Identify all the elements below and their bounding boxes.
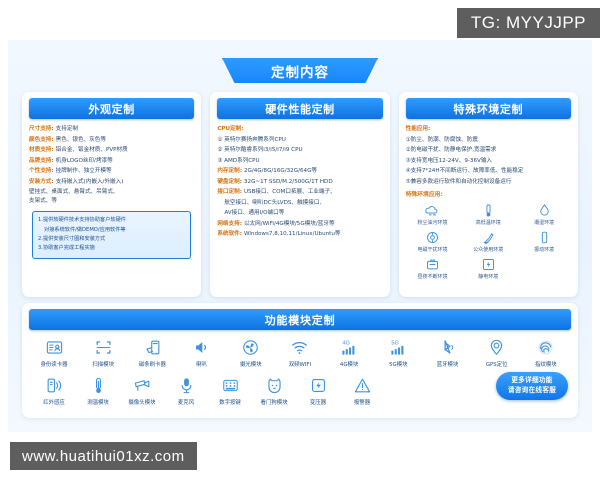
customization-columns: 外观定制 尺寸支持: 支持定制 颜色支持: 黑色、银色、灰色等 材质支持: 铝合… — [22, 92, 578, 297]
module-4g[interactable]: 4G 4G模块 — [327, 336, 371, 368]
env-item-public-use: 公众使用环境 — [461, 230, 515, 254]
spec-value: 支持定制 — [56, 125, 78, 134]
env-item-label: 电磁干扰环境 — [418, 246, 448, 254]
spec-key: 硬盘定制: — [217, 178, 242, 187]
cpu-option: ③ AMD系列CPU — [217, 157, 382, 166]
module-row-1: 身份读卡器 扫描模块 — [22, 336, 578, 368]
module-label: 测温模块 — [87, 398, 109, 406]
spec-row: 尺寸支持: 支持定制 — [29, 125, 194, 134]
env-item-label: 潮湿环境 — [534, 219, 554, 227]
cpu-group-label: CPU定制: — [217, 125, 382, 134]
water-drop-icon — [537, 203, 552, 218]
spec-row: 安装方式: 支持嵌入式(内嵌入/外嵌入) — [29, 178, 194, 187]
module-light-sensor[interactable]: 摄光模块 — [229, 336, 273, 368]
module-infrared-sensor[interactable]: 红外感应 — [32, 374, 76, 406]
spec-value: Windows7,8,10,11/Linux/Ubuntu等 — [244, 230, 341, 239]
spec-value: 2G/4G/8G/16G/32G/64G等 — [244, 167, 317, 176]
cpu-option: ① 英特尔赛扬奔腾系列CPU — [217, 136, 382, 145]
keypad-icon — [221, 374, 240, 395]
telegram-watermark: TG: MYYJJPP — [457, 8, 600, 38]
thermometer-icon — [481, 203, 496, 218]
dust-oil-icon — [425, 203, 440, 218]
fan-light-icon — [241, 336, 260, 357]
id-card-reader-icon — [45, 336, 64, 357]
spec-value: USB接口、COM口拓展、工业端子、 — [244, 188, 336, 197]
env-item-label: 昼夜不断环境 — [418, 273, 448, 281]
module-camera[interactable]: 摄像头模块 — [120, 374, 164, 406]
camera-icon — [133, 374, 152, 395]
vibration-icon — [537, 230, 552, 245]
customization-infographic: 定制内容 外观定制 尺寸支持: 支持定制 颜色支持: 黑色、银色、灰色等 材质支… — [8, 40, 592, 432]
spec-key: 安装方式: — [29, 178, 54, 187]
performance-item: ②防电磁干扰、防静电保护,宽温需求 — [406, 146, 571, 155]
spec-value: 挂牌制作、独立开模等 — [56, 167, 112, 176]
module-label: 喇叭 — [196, 360, 207, 368]
note-line: 2.提供安装尺寸图和安装方式 — [38, 235, 185, 243]
microphone-icon — [177, 374, 196, 395]
spec-value: 黑色、银色、灰色等 — [56, 136, 106, 145]
module-bluetooth[interactable]: 蓝牙模块 — [426, 336, 470, 368]
module-label: 身份读卡器 — [41, 360, 68, 368]
hardware-card-header: 硬件性能定制 — [217, 98, 382, 119]
spec-key: 颜色支持: — [29, 136, 54, 145]
module-speaker[interactable]: 喇叭 — [180, 336, 224, 368]
env-item-vibration: 振动环境 — [517, 230, 571, 254]
spec-continuation: 航空接口、喇叭DC头LVDS、触摸接口、 — [217, 199, 382, 208]
note-line: 对接系统软件/做DEMO/应用软件等 — [38, 226, 185, 234]
performance-item: ③支持宽电压12-24V、9-36V输入 — [406, 157, 571, 166]
spec-row: 颜色支持: 黑色、银色、灰色等 — [29, 136, 194, 145]
spec-row: 接口定制: USB接口、COM口拓展、工业端子、 — [217, 188, 382, 197]
alarm-warning-icon — [353, 374, 372, 395]
cpu-option: ② 英特尔酷睿系列i3/i5/i7/i9 CPU — [217, 146, 382, 155]
module-watchdog[interactable]: 看门狗模块 — [252, 374, 296, 406]
spec-row: 个性支持: 挂牌制作、独立开模等 — [29, 167, 194, 176]
module-row-2: 红外感应 测温模块 — [22, 374, 578, 406]
module-label: 蓝牙模块 — [437, 360, 459, 368]
spec-value: 32G~1T SSD/M.2/500G/1T HDD — [244, 178, 333, 187]
svg-text:4G: 4G — [342, 340, 349, 346]
scan-frame-icon — [94, 336, 113, 357]
module-5g[interactable]: 5G 5G模块 — [376, 336, 420, 368]
module-magnetic-card-swipe[interactable]: 磁条刷卡器 — [130, 336, 174, 368]
environment-card-body: 性能应用: ①防尘、防潮、防腐蚀、防震 ②防电磁干扰、防静电保护,宽温需求 ③支… — [399, 119, 578, 297]
watchdog-icon — [265, 374, 284, 395]
spec-key: 个性支持: — [29, 167, 54, 176]
env-item-label: 振动环境 — [534, 246, 554, 254]
signal-4g-icon: 4G — [340, 336, 359, 357]
public-hand-icon — [481, 230, 496, 245]
module-label: GPS定位 — [486, 360, 508, 368]
module-label: 看门狗模块 — [261, 398, 288, 406]
spec-value: 支持嵌入式(内嵌入/外嵌入) — [56, 178, 124, 187]
magnetic-card-swipe-icon — [143, 336, 162, 357]
spec-key: 内存定制: — [217, 167, 242, 176]
module-label: 摄像头模块 — [129, 398, 156, 406]
fingerprint-icon — [536, 336, 555, 357]
appearance-card-body: 尺寸支持: 支持定制 颜色支持: 黑色、银色、灰色等 材质支持: 铝合金、钣金材… — [22, 119, 201, 297]
spec-value: 机身LOGO丝印/烤漆等 — [56, 157, 113, 166]
page-title-wrap: 定制内容 — [8, 58, 592, 83]
env-item-day-night: 昼夜不断环境 — [406, 257, 460, 281]
electromagnetic-icon — [425, 230, 440, 245]
spec-row: 材质支持: 铝合金、钣金材质、PVP材质 — [29, 146, 194, 155]
bluetooth-icon — [438, 336, 457, 357]
cta-line-2: 请咨询在线客服 — [508, 386, 556, 396]
env-item-static: 静电环境 — [461, 257, 515, 281]
module-transformer[interactable]: 变压器 — [296, 374, 340, 406]
spec-continuation: 支架式、等 — [29, 197, 194, 206]
env-item-humidity: 潮湿环境 — [517, 203, 571, 227]
env-item-dust-oil: 粉尘油污环境 — [406, 203, 460, 227]
module-label: 磁条刷卡器 — [139, 360, 166, 368]
spec-row: 内存定制: 2G/4G/8G/16G/32G/64G等 — [217, 167, 382, 176]
day-night-icon — [425, 257, 440, 272]
wifi-icon — [290, 336, 309, 357]
spec-key: 接口定制: — [217, 188, 242, 197]
performance-group-label: 性能应用: — [406, 125, 571, 134]
module-label: 扫描模块 — [92, 360, 114, 368]
module-fingerprint[interactable]: 指纹模块 — [524, 336, 568, 368]
function-module-panel: 功能模块定制 身份读卡器 — [22, 303, 578, 418]
module-label: 摄光模块 — [240, 360, 262, 368]
website-watermark: www.huatihui01xz.com — [10, 442, 197, 470]
hardware-performance-card: 硬件性能定制 CPU定制: ① 英特尔赛扬奔腾系列CPU ② 英特尔酷睿系列i3… — [210, 92, 389, 297]
svg-text:5G: 5G — [391, 340, 398, 346]
module-label: 5G模块 — [389, 360, 407, 368]
contact-service-button[interactable]: 更多详细功能 请咨询在线客服 — [496, 372, 568, 400]
module-temperature[interactable]: 测温模块 — [76, 374, 120, 406]
spec-row: 硬盘定制: 32G~1T SSD/M.2/500G/1T HDD — [217, 178, 382, 187]
env-item-temperature: 高低温环境 — [461, 203, 515, 227]
static-electricity-icon — [481, 257, 496, 272]
environment-icon-grid: 粉尘油污环境 高低温环境 — [406, 203, 571, 281]
appearance-customization-card: 外观定制 尺寸支持: 支持定制 颜色支持: 黑色、银色、灰色等 材质支持: 铝合… — [22, 92, 201, 297]
env-item-label: 高低温环境 — [476, 219, 501, 227]
spec-value: 铝合金、钣金材质、PVP材质 — [56, 146, 128, 155]
note-line: 3.协助客户完成工程实施 — [38, 244, 185, 252]
spec-value: 以太网/WiFi/4G模块/5G模块/蓝牙等 — [244, 220, 335, 229]
module-alarm[interactable]: 报警器 — [340, 374, 384, 406]
page-title: 定制内容 — [222, 58, 378, 83]
spec-row: 网络支持: 以太网/WiFi/4G模块/5G模块/蓝牙等 — [217, 220, 382, 229]
performance-item: ①防尘、防潮、防腐蚀、防震 — [406, 136, 571, 145]
module-label: 指纹模块 — [535, 360, 557, 368]
module-label: 双频WIFI — [289, 360, 311, 368]
env-item-label: 粉尘油污环境 — [418, 219, 448, 227]
module-dual-band-wifi[interactable]: 双频WIFI — [278, 336, 322, 368]
spec-continuation: AV接口、通用I/O端口等 — [217, 209, 382, 218]
hardware-card-body: CPU定制: ① 英特尔赛扬奔腾系列CPU ② 英特尔酷睿系列i3/i5/i7/… — [210, 119, 389, 297]
function-module-header: 功能模块定制 — [29, 309, 571, 330]
module-label: 变压器 — [310, 398, 326, 406]
module-label: 4G模块 — [340, 360, 358, 368]
cta-line-1: 更多详细功能 — [511, 376, 552, 386]
infrared-sensor-icon — [45, 374, 64, 395]
module-keypad[interactable]: 数字按键 — [208, 374, 252, 406]
performance-item: ⑤兼容多款运行软件和自动化控制设备运行 — [406, 178, 571, 187]
appearance-support-note: 1.提供软硬件技术支持协助客户软硬件 对接系统软件/做DEMO/应用软件等 2.… — [32, 211, 191, 258]
environment-card-header: 特殊环境定制 — [406, 98, 571, 119]
module-scan[interactable]: 扫描模块 — [81, 336, 125, 368]
note-line: 1.提供软硬件技术支持协助客户软硬件 — [38, 216, 185, 224]
spec-continuation: 壁挂式、桌面式、悬臂式、吊臂式、 — [29, 188, 194, 197]
performance-item: ④支持7*24H不间断运行、故障率低、性能稳定 — [406, 167, 571, 176]
module-label: 红外感应 — [43, 398, 65, 406]
module-id-card-reader[interactable]: 身份读卡器 — [32, 336, 76, 368]
spec-row: 系统软件: Windows7,8,10,11/Linux/Ubuntu等 — [217, 230, 382, 239]
appearance-card-header: 外观定制 — [29, 98, 194, 119]
special-environment-card: 特殊环境定制 性能应用: ①防尘、防潮、防腐蚀、防震 ②防电磁干扰、防静电保护,… — [399, 92, 578, 297]
env-item-label: 公众使用环境 — [473, 246, 503, 254]
env-item-label: 静电环境 — [478, 273, 498, 281]
module-microphone[interactable]: 麦克风 — [164, 374, 208, 406]
signal-5g-icon: 5G — [389, 336, 408, 357]
environment-grid-title: 特殊环境应用: — [406, 191, 571, 200]
spec-row: 品牌支持: 机身LOGO丝印/烤漆等 — [29, 157, 194, 166]
temperature-icon — [89, 374, 108, 395]
spec-key: 系统软件: — [217, 230, 242, 239]
module-label: 数字按键 — [219, 398, 241, 406]
transformer-icon — [309, 374, 328, 395]
env-item-electromagnetic: 电磁干扰环境 — [406, 230, 460, 254]
spec-key: 网络支持: — [217, 220, 242, 229]
spec-key: 尺寸支持: — [29, 125, 54, 134]
module-gps[interactable]: GPS定位 — [475, 336, 519, 368]
module-label: 麦克风 — [178, 398, 194, 406]
module-label: 报警器 — [354, 398, 370, 406]
gps-pin-icon — [487, 336, 506, 357]
spec-key: 品牌支持: — [29, 157, 54, 166]
spec-key: 材质支持: — [29, 146, 54, 155]
speaker-icon — [192, 336, 211, 357]
